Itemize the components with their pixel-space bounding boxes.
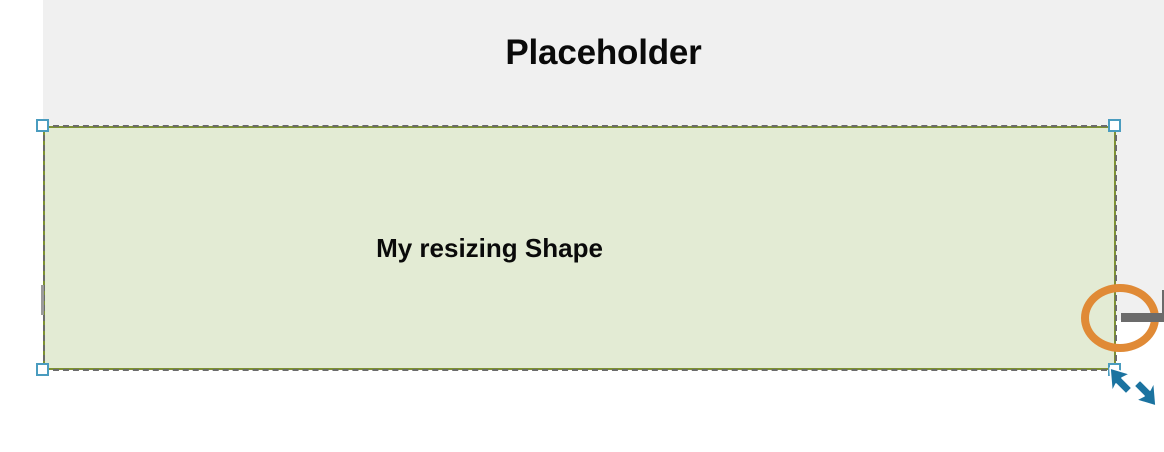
- shape-label: My resizing Shape: [0, 233, 1026, 264]
- resize-handle-bottom-left[interactable]: [36, 363, 49, 376]
- resize-handle-top-right[interactable]: [1108, 119, 1121, 132]
- corner-bracket-horizontal-bar: [1121, 313, 1164, 322]
- resize-nwse-cursor-icon: [1108, 362, 1160, 410]
- editor-canvas: Placeholder My resizing Shape: [0, 0, 1164, 452]
- resize-handle-middle-left[interactable]: [41, 285, 44, 315]
- page-title: Placeholder: [43, 32, 1164, 74]
- corner-bracket-marker: [1121, 290, 1164, 322]
- resize-handle-top-left[interactable]: [36, 119, 49, 132]
